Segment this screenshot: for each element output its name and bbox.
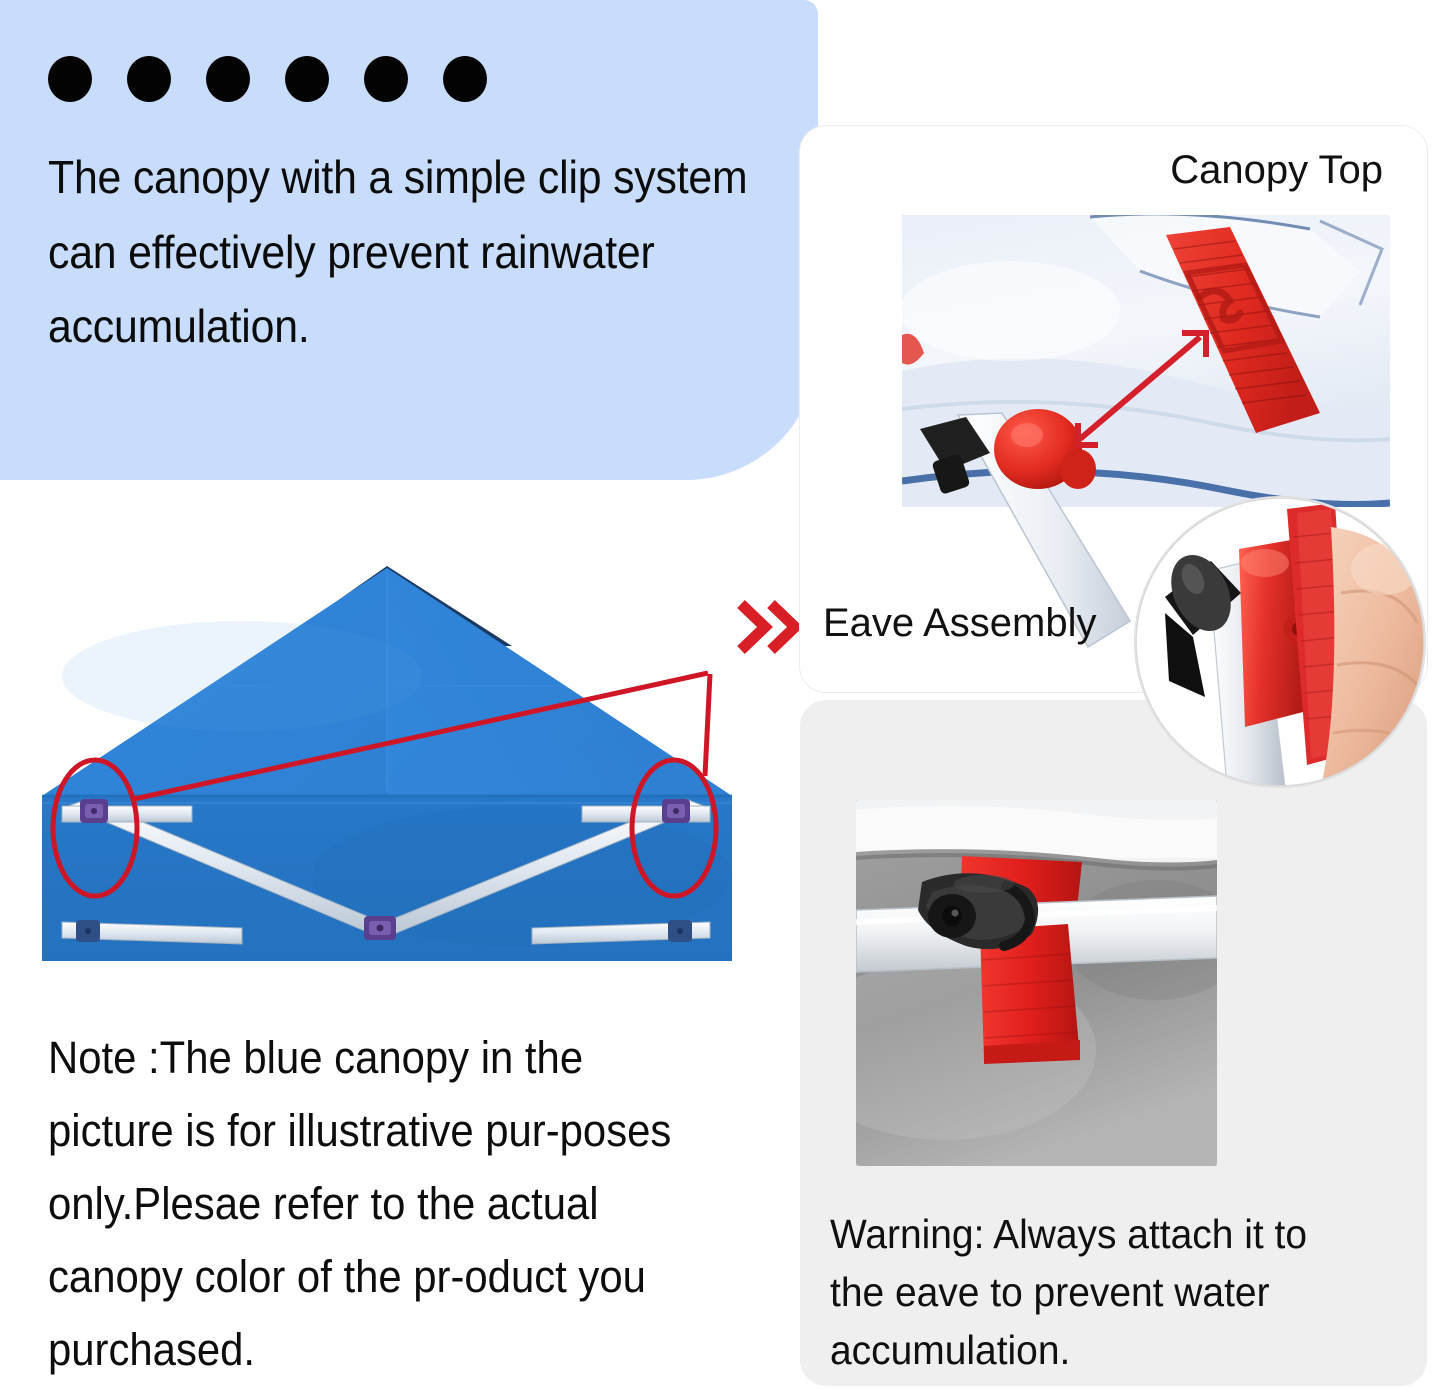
canopy-tent-photo <box>42 556 732 961</box>
clip-fitting-corner <box>76 920 100 942</box>
eave-clip-inset-photo <box>1135 497 1425 787</box>
label-canopy-top: Canopy Top <box>1170 148 1383 193</box>
bullet-dots-row <box>48 56 487 102</box>
bullet-dot-icon <box>285 56 329 102</box>
clip-fitting-corner <box>668 920 692 942</box>
annotation-leader-line <box>705 674 710 776</box>
headline-text: The canopy with a simple clip system can… <box>48 140 769 364</box>
eave-strap-photo <box>856 800 1217 1166</box>
bullet-dot-icon <box>206 56 250 102</box>
warning-text: Warning: Always attach it to the eave to… <box>830 1205 1362 1380</box>
bullet-dot-icon <box>127 56 171 102</box>
bullet-dot-icon <box>364 56 408 102</box>
clip-fitting <box>80 799 108 823</box>
bullet-dot-icon <box>443 56 487 102</box>
bullet-dot-icon <box>48 56 92 102</box>
note-text: Note :The blue canopy in the picture is … <box>48 1022 699 1386</box>
double-chevron-right-icon <box>735 598 805 656</box>
clip-fitting <box>662 799 690 823</box>
clip-fitting-center <box>364 916 396 940</box>
label-eave-assembly: Eave Assembly <box>823 601 1096 646</box>
